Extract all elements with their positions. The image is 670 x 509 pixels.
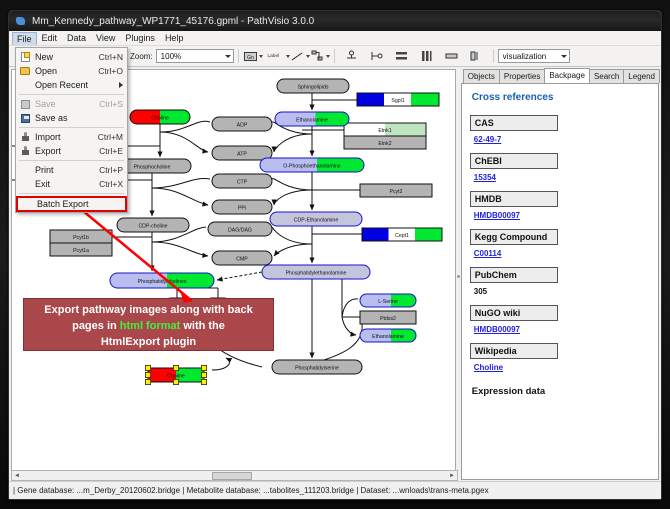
export-icon	[18, 146, 32, 156]
selection-handle[interactable]	[201, 365, 206, 370]
import-icon	[21, 132, 30, 142]
metabolite-node-ethanolamine2[interactable]: Ethanolamine	[360, 329, 416, 342]
file-menu-label: Save	[32, 99, 99, 109]
tab-properties[interactable]: Properties	[499, 69, 545, 83]
file-menu-item-open[interactable]: OpenCtrl+O	[16, 64, 127, 78]
side-panel: Objects Properties Backpage Search Legen…	[461, 68, 661, 481]
metabolite-node-cdp-etn[interactable]: CDP-Ethanolamine	[270, 212, 362, 226]
metabolite-node-choline-sel[interactable]: Choline	[145, 365, 206, 384]
gene-node-cept1[interactable]: Cept1	[362, 228, 442, 241]
connector-dropdown-chevron-icon[interactable]	[326, 55, 330, 58]
metabolite-label: Phosphatidylethanolamine	[286, 270, 347, 276]
xref-source-hmdb: HMDB	[470, 191, 558, 207]
callout-line-3: HtmlExport plugin	[24, 334, 273, 350]
xref-link[interactable]: 62-49-7	[474, 135, 502, 144]
file-menu-label: Save as	[32, 113, 123, 123]
save-icon	[21, 100, 30, 109]
xref-value-cas[interactable]: 62-49-7	[474, 135, 650, 144]
xref-link[interactable]: 15354	[474, 173, 496, 182]
file-menu-label: New	[32, 52, 99, 62]
gene-label: Pcyt1a	[73, 248, 89, 254]
pathvisio-icon	[15, 15, 27, 27]
metabolite-label: CDP-Ethanolamine	[294, 217, 339, 223]
menu-bar: File Edit Data View Plugins Help	[9, 31, 661, 46]
file-menu-item-new[interactable]: NewCtrl+N	[16, 50, 127, 64]
gene-label: Ptdss2	[380, 316, 396, 322]
selection-handle[interactable]	[201, 379, 206, 384]
cross-reference-list: CAS62-49-7ChEBI15354HMDBHMDB00097Kegg Co…	[470, 115, 650, 372]
label-tool-text: Label	[268, 54, 280, 59]
selection-handle[interactable]	[201, 372, 206, 377]
visualization-value: visualization	[503, 52, 547, 61]
file-menu-item-print[interactable]: PrintCtrl+P	[16, 163, 127, 177]
metabolite-label: Sphingolipids	[298, 84, 329, 90]
xref-value-hmdb[interactable]: HMDB00097	[474, 211, 650, 220]
metabolite-label: Phosphatidylserine	[295, 365, 339, 371]
label-tool-button[interactable]: Label	[263, 49, 285, 64]
selection-handle[interactable]	[173, 379, 178, 384]
same-height-icon[interactable]	[469, 49, 484, 64]
align-columns-icon[interactable]	[419, 49, 434, 64]
callout-line-1: Export pathway images along with back	[24, 302, 273, 318]
xref-source-nugo-wiki: NuGO wiki	[470, 305, 558, 321]
file-menu-item-import[interactable]: ImportCtrl+M	[16, 130, 127, 144]
file-menu-accelerator: Ctrl+M	[98, 132, 123, 142]
metabolite-label: ADP	[237, 122, 248, 128]
toolbar-separator	[238, 49, 239, 63]
file-menu-item-open-recent[interactable]: Open Recent	[16, 78, 127, 92]
gene-label: Pcyt1b	[73, 235, 89, 241]
gene-label: Sgpl1	[391, 98, 404, 104]
xref-link[interactable]: Choline	[474, 363, 503, 372]
file-menu-label: Exit	[32, 179, 99, 189]
open-folder-icon	[20, 67, 30, 75]
align-left-icon[interactable]	[369, 49, 384, 64]
scrollbar-thumb[interactable]	[212, 472, 252, 480]
callout-line-2: pages in html format with the	[24, 318, 273, 334]
side-panel-tabs: Objects Properties Backpage Search Legen…	[461, 69, 659, 84]
file-menu-item-batch-export[interactable]: Batch Export	[16, 196, 127, 212]
tab-backpage[interactable]: Backpage	[544, 68, 590, 83]
menu-view[interactable]: View	[91, 31, 120, 45]
metabolite-node-lserine[interactable]: L-Serine	[360, 294, 416, 307]
metabolite-node-ppi[interactable]: PPi	[212, 200, 272, 214]
metabolite-label: L-Serine	[378, 299, 398, 305]
xref-source-cas: CAS	[470, 115, 558, 131]
metabolite-node-ptdserine[interactable]: Phosphatidylserine	[272, 360, 362, 374]
selection-handle[interactable]	[145, 379, 150, 384]
metabolite-label: DAG/DAG	[228, 227, 252, 233]
expression-data-heading: Expression data	[472, 386, 650, 397]
xref-value-pubchem: 305	[474, 287, 650, 296]
gene-label: Etnk1	[378, 128, 391, 134]
gene-label: Etnk2	[378, 141, 391, 147]
status-text: | Gene database: ...m_Derby_20120602.bri…	[13, 486, 489, 495]
chevron-down-icon-2	[561, 55, 567, 58]
open-folder-icon	[18, 67, 32, 75]
metabolite-node-adp[interactable]: ADP	[212, 117, 272, 131]
xref-value-wikipedia[interactable]: Choline	[474, 363, 650, 372]
title-bar: Mm_Kennedy_pathway_WP1771_45176.gpml - P…	[9, 11, 661, 31]
pathvisio-window: Mm_Kennedy_pathway_WP1771_45176.gpml - P…	[8, 10, 662, 500]
metabolite-node-ctp[interactable]: CTP	[212, 174, 272, 188]
metabolite-label: Ethanolamine	[296, 117, 328, 123]
file-menu-item-save: SaveCtrl+S	[16, 97, 127, 111]
metabolite-node-ptdcholines[interactable]: Phosphatidylcholines	[110, 273, 214, 288]
xref-link[interactable]: C00114	[474, 249, 502, 258]
gene-label: Cept1	[395, 233, 409, 239]
menu-separator	[19, 94, 124, 95]
metabolite-label: CDP-choline	[138, 223, 167, 229]
selection-handle[interactable]	[145, 372, 150, 377]
gene-label: Pcyt2	[390, 189, 403, 195]
callout-line-2-pre: pages in	[72, 320, 120, 332]
metabolite-label: Phosphatidylcholines	[138, 279, 187, 285]
status-bar: | Gene database: ...m_Derby_20120602.bri…	[9, 481, 661, 499]
toolbar-separator-3	[493, 49, 494, 63]
zoom-combo[interactable]: 100%	[156, 49, 234, 63]
file-menu-accelerator: Ctrl+O	[98, 66, 123, 76]
file-menu-label: Open	[32, 66, 98, 76]
callout-line-2-post: with the	[180, 320, 225, 332]
gene-node-sgpl1[interactable]: Sgpl1	[357, 93, 439, 106]
xref-source-wikipedia: Wikipedia	[470, 343, 558, 359]
file-menu-accelerator: Ctrl+P	[99, 165, 123, 175]
toolbar-separator-2	[334, 49, 335, 63]
file-menu-label: Export	[32, 146, 99, 156]
export-icon	[21, 146, 30, 156]
xref-source-kegg-compound: Kegg Compound	[470, 229, 558, 245]
file-menu-label: Batch Export	[34, 199, 121, 209]
gene-node-etnk2[interactable]: Etnk2	[344, 136, 426, 149]
scroll-right-arrow-icon[interactable]: ►	[447, 471, 457, 480]
gene-node-pcyt2[interactable]: Pcyt2	[360, 184, 432, 197]
scroll-left-arrow-icon[interactable]: ◄	[12, 471, 22, 480]
xref-value-chebi[interactable]: 15354	[474, 173, 650, 182]
metabolite-node-sphingolipids[interactable]: Sphingolipids	[277, 79, 349, 93]
tab-search[interactable]: Search	[589, 69, 624, 83]
chevron-down-icon	[225, 55, 231, 58]
file-menu-label: Open Recent	[32, 80, 119, 90]
canvas-horizontal-scrollbar[interactable]: ◄ ►	[11, 470, 458, 481]
file-menu-item-export[interactable]: ExportCtrl+E	[16, 144, 127, 158]
file-menu-item-save-as[interactable]: Save as	[16, 111, 127, 125]
gene-node-etnk1[interactable]: Etnk1	[344, 123, 426, 136]
menu-file[interactable]: File	[12, 32, 37, 45]
menu-separator	[19, 127, 124, 128]
svg-text:Gn: Gn	[247, 55, 254, 61]
file-menu-accelerator: Ctrl+N	[99, 52, 123, 62]
menu-edit[interactable]: Edit	[37, 31, 63, 45]
screenshot-root: Mm_Kennedy_pathway_WP1771_45176.gpml - P…	[0, 0, 670, 509]
xref-link[interactable]: HMDB00097	[474, 211, 520, 220]
file-menu-accelerator: Ctrl+X	[99, 179, 123, 189]
datanode-icon[interactable]: Gn	[243, 49, 258, 64]
tab-legend[interactable]: Legend	[623, 69, 660, 83]
menu-help[interactable]: Help	[160, 31, 189, 45]
save-as-icon	[21, 114, 30, 123]
metabolite-label: O-Phosphoethanolamine	[283, 163, 341, 169]
submenu-arrow-icon	[119, 82, 123, 88]
metabolite-label: CMP	[236, 256, 248, 262]
xref-link[interactable]: HMDB00097	[474, 325, 520, 334]
metabolite-label: CTP	[237, 179, 248, 185]
metabolite-node-ptdetn[interactable]: Phosphatidylethanolamine	[262, 265, 370, 279]
menu-data[interactable]: Data	[62, 31, 91, 45]
selection-handle[interactable]	[145, 365, 150, 370]
menu-separator	[19, 193, 124, 194]
metabolite-label: Ethanolamine	[372, 334, 404, 340]
file-menu-item-exit[interactable]: ExitCtrl+X	[16, 177, 127, 191]
selection-handle[interactable]	[173, 365, 178, 370]
save-as-icon	[18, 114, 32, 123]
zoom-value: 100%	[161, 52, 181, 61]
same-width-icon[interactable]	[444, 49, 459, 64]
metabolite-node-dagdag[interactable]: DAG/DAG	[208, 222, 272, 236]
new-file-icon	[21, 52, 30, 62]
backpage-content[interactable]: Cross references CAS62-49-7ChEBI15354HMD…	[461, 84, 659, 480]
xref-value-kegg-compound[interactable]: C00114	[474, 249, 650, 258]
metabolite-node-ethanolamine1[interactable]: Ethanolamine	[275, 112, 349, 126]
window-title: Mm_Kennedy_pathway_WP1771_45176.gpml - P…	[32, 16, 314, 27]
gene-node-ptdss2[interactable]: Ptdss2	[360, 311, 416, 324]
callout-highlight: html format	[120, 320, 181, 332]
xref-value-nugo-wiki[interactable]: HMDB00097	[474, 325, 650, 334]
menu-separator	[19, 160, 124, 161]
metabolite-node-cdp-choline[interactable]: CDP-choline	[117, 218, 189, 232]
visualization-combo[interactable]: visualization	[498, 49, 570, 63]
tab-objects[interactable]: Objects	[463, 69, 500, 83]
backpage-title: Cross references	[472, 92, 650, 103]
callout-annotation: Export pathway images along with back pa…	[23, 298, 274, 351]
xref-source-chebi: ChEBI	[470, 153, 558, 169]
align-rows-icon[interactable]	[394, 49, 409, 64]
metabolite-node-atp[interactable]: ATP	[212, 146, 272, 160]
metabolite-label: PPi	[238, 205, 246, 211]
metabolite-node-choline[interactable]: Choline	[130, 110, 190, 124]
file-menu-dropdown[interactable]: NewCtrl+NOpenCtrl+OOpen RecentSaveCtrl+S…	[15, 47, 128, 213]
metabolite-label: Choline	[151, 115, 169, 121]
file-menu-accelerator: Ctrl+S	[99, 99, 123, 109]
gene-node-pcyt1a[interactable]: Pcyt1a	[50, 243, 112, 256]
gene-node-pcyt1b[interactable]: Pcyt1b	[50, 230, 112, 243]
menu-plugins[interactable]: Plugins	[120, 31, 160, 45]
metabolite-node-cmp[interactable]: CMP	[212, 251, 272, 265]
metabolite-node-ophosphoetn[interactable]: O-Phosphoethanolamine	[260, 158, 364, 172]
import-icon	[18, 132, 32, 142]
file-menu-label: Import	[32, 132, 98, 142]
file-menu-accelerator: Ctrl+E	[99, 146, 123, 156]
metabolite-label: Choline	[167, 373, 185, 379]
metabolite-label: ATP	[237, 151, 247, 157]
metabolite-label: Phosphocholine	[134, 164, 171, 170]
zoom-label: Zoom:	[130, 52, 153, 61]
align-top-icon[interactable]	[344, 49, 359, 64]
file-menu-label: Print	[32, 165, 99, 175]
line-tool-icon[interactable]	[290, 49, 305, 64]
xref-source-pubchem: PubChem	[470, 267, 558, 283]
save-icon	[18, 100, 32, 109]
new-file-icon	[18, 52, 32, 62]
connector-tool-icon[interactable]	[310, 49, 325, 64]
